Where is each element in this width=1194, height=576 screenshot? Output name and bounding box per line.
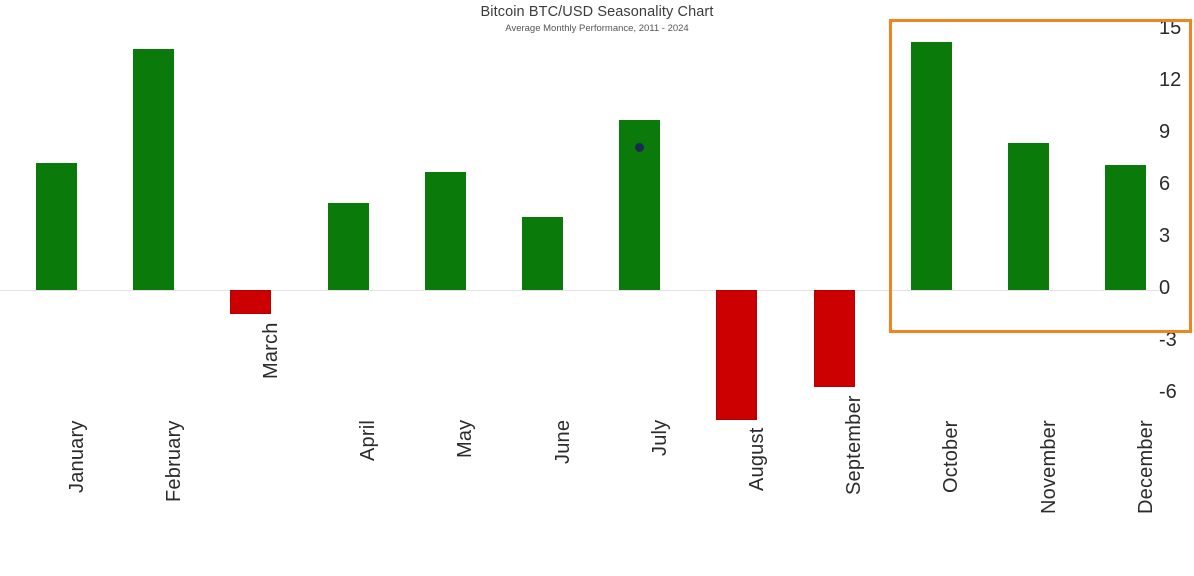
y-axis: 15129630-3-6 <box>1159 0 1194 576</box>
x-label-may: May <box>454 420 477 458</box>
y-tick-9: 9 <box>1159 121 1194 144</box>
y-tick-neg3: -3 <box>1159 329 1194 352</box>
bar-may[interactable] <box>425 172 466 290</box>
y-tick-12: 12 <box>1159 69 1194 92</box>
seasonality-chart: Bitcoin BTC/USD Seasonality Chart Averag… <box>0 0 1194 576</box>
bar-february[interactable] <box>133 49 174 290</box>
y-tick-0: 0 <box>1159 277 1194 300</box>
x-label-january: January <box>66 420 89 493</box>
x-label-april: April <box>357 420 380 461</box>
zero-baseline <box>0 290 1165 291</box>
x-label-december: December <box>1135 420 1158 514</box>
y-tick-neg6: -6 <box>1159 381 1194 404</box>
x-label-june: June <box>552 420 575 464</box>
bar-august[interactable] <box>716 290 757 420</box>
plot-area: JanuaryFebruaryMarchAprilMayJuneJulyAugu… <box>0 0 1155 576</box>
bar-november[interactable] <box>1008 143 1049 290</box>
x-label-october: October <box>940 420 963 493</box>
bar-june[interactable] <box>522 217 563 290</box>
bar-march[interactable] <box>230 290 271 314</box>
y-tick-6: 6 <box>1159 173 1194 196</box>
x-label-july: July <box>649 420 672 456</box>
bar-april[interactable] <box>328 203 369 290</box>
x-label-february: February <box>163 420 186 502</box>
x-label-march: March <box>260 323 283 380</box>
bar-october[interactable] <box>911 42 952 290</box>
x-label-september: September <box>843 395 866 495</box>
bar-december[interactable] <box>1105 165 1146 290</box>
bar-september[interactable] <box>814 290 855 387</box>
bar-january[interactable] <box>36 163 77 290</box>
y-tick-15: 15 <box>1159 17 1194 40</box>
x-label-november: November <box>1038 420 1061 514</box>
x-label-august: August <box>746 428 769 491</box>
y-tick-3: 3 <box>1159 225 1194 248</box>
